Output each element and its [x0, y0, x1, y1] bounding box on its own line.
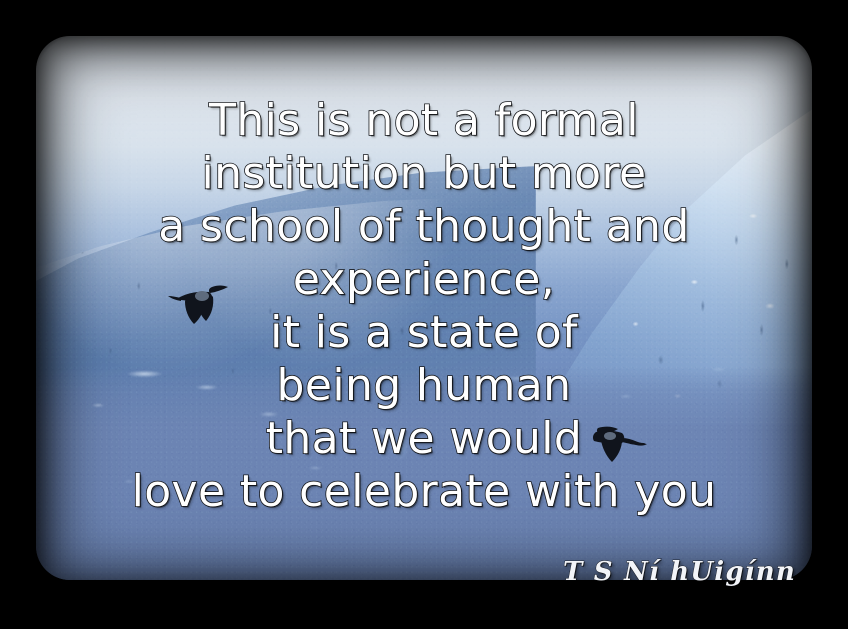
artist-signature: T S Ní hUigínn [563, 557, 796, 587]
quote-line: This is not a formal [0, 94, 848, 147]
quote-line: that we would [0, 412, 848, 465]
quote-line: love to celebrate with you [0, 465, 848, 518]
quote-line: experience, [0, 253, 848, 306]
quote-poster: This is not a formalinstitution but more… [0, 0, 848, 629]
quote-line: a school of thought and [0, 200, 848, 253]
quote-text-block: This is not a formalinstitution but more… [0, 94, 848, 518]
quote-line: it is a state of [0, 306, 848, 359]
quote-line: institution but more [0, 147, 848, 200]
quote-line: being human [0, 359, 848, 412]
